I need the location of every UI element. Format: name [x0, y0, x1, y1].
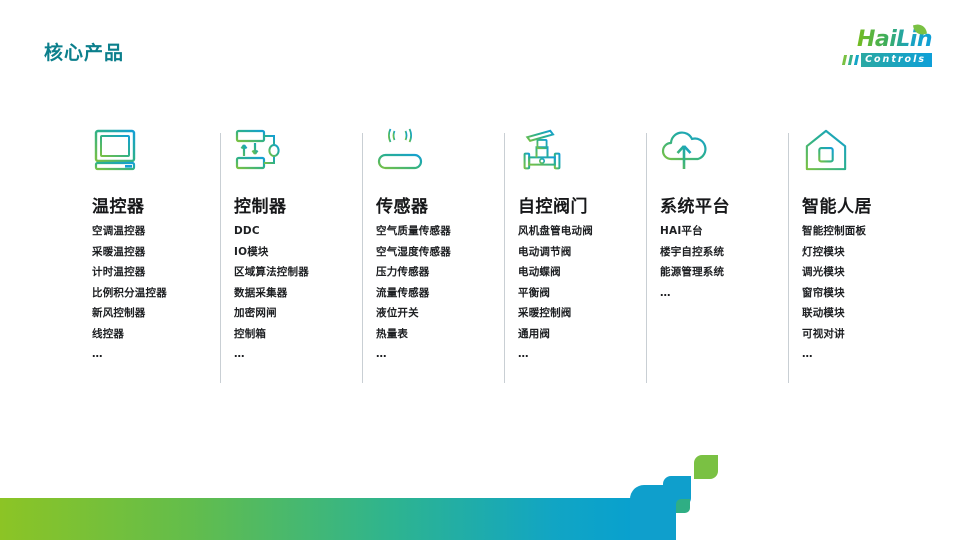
- control-valve-icon: [518, 128, 566, 172]
- smart-home-chip-icon: [802, 128, 850, 172]
- list-item: HAI平台: [660, 226, 788, 237]
- column-item-list: HAI平台 楼宇自控系统 能源管理系统 …: [660, 226, 788, 298]
- list-item: DDC: [234, 226, 362, 237]
- column-title: 智能人居: [802, 192, 930, 217]
- column-title: 温控器: [92, 192, 220, 217]
- list-item: 采暖温控器: [92, 247, 220, 258]
- product-column-valve: 自控阀门 风机盘管电动阀 电动调节阀 电动蝶阀 平衡阀 采暖控制阀 通用阀 …: [504, 128, 646, 390]
- brand-bar-icon: [854, 55, 859, 65]
- list-item: 线控器: [92, 329, 220, 340]
- brand-bar-icon: [842, 55, 847, 65]
- list-item: IO模块: [234, 247, 362, 258]
- column-item-list: 智能控制面板 灯控模块 调光模块 窗帘模块 联动模块 可视对讲 …: [802, 226, 930, 360]
- brand-subtitle-row: Controls: [843, 53, 932, 66]
- list-item: 流量传感器: [376, 288, 504, 299]
- list-item: 加密网闸: [234, 308, 362, 319]
- product-column-platform: 系统平台 HAI平台 楼宇自控系统 能源管理系统 …: [646, 128, 788, 390]
- list-item-ellipsis: …: [92, 349, 220, 360]
- list-item: 空气质量传感器: [376, 226, 504, 237]
- product-category-columns: 温控器 空调温控器 采暖温控器 计时温控器 比例积分温控器 新风控制器 线控器 …: [78, 128, 908, 390]
- footer-gradient-bar: [0, 498, 675, 540]
- list-item: 液位开关: [376, 308, 504, 319]
- brand-logo: HaiLin Controls: [812, 26, 932, 70]
- list-item-ellipsis: …: [660, 288, 788, 299]
- list-item: 窗帘模块: [802, 288, 930, 299]
- list-item: 数据采集器: [234, 288, 362, 299]
- list-item: 灯控模块: [802, 247, 930, 258]
- list-item: 热量表: [376, 329, 504, 340]
- list-item: 调光模块: [802, 267, 930, 278]
- column-item-list: 空气质量传感器 空气湿度传感器 压力传感器 流量传感器 液位开关 热量表 …: [376, 226, 504, 360]
- column-title: 系统平台: [660, 192, 788, 217]
- page-title: 核心产品: [44, 38, 124, 65]
- column-title: 自控阀门: [518, 192, 646, 217]
- footer-leaf-teal-icon: [676, 499, 690, 513]
- column-divider: [504, 133, 505, 383]
- column-item-list: 空调温控器 采暖温控器 计时温控器 比例积分温控器 新风控制器 线控器 …: [92, 226, 220, 360]
- list-item-ellipsis: …: [802, 349, 930, 360]
- list-item: 空调温控器: [92, 226, 220, 237]
- list-item: 区域算法控制器: [234, 267, 362, 278]
- brand-wordmark: HaiLin: [857, 29, 932, 51]
- list-item-ellipsis: …: [518, 349, 646, 360]
- list-item: 电动调节阀: [518, 247, 646, 258]
- list-item: 空气湿度传感器: [376, 247, 504, 258]
- column-divider: [362, 133, 363, 383]
- list-item: 采暖控制阀: [518, 308, 646, 319]
- product-column-controller: 控制器 DDC IO模块 区域算法控制器 数据采集器 加密网闸 控制箱 …: [220, 128, 362, 390]
- footer-leaf-green-icon: [694, 455, 718, 479]
- column-item-list: 风机盘管电动阀 电动调节阀 电动蝶阀 平衡阀 采暖控制阀 通用阀 …: [518, 226, 646, 360]
- wireless-sensor-icon: [376, 128, 424, 172]
- list-item: 压力传感器: [376, 267, 504, 278]
- column-title: 控制器: [234, 192, 362, 217]
- list-item: 风机盘管电动阀: [518, 226, 646, 237]
- column-divider: [788, 133, 789, 383]
- list-item: 控制箱: [234, 329, 362, 340]
- list-item: 联动模块: [802, 308, 930, 319]
- list-item: 计时温控器: [92, 267, 220, 278]
- product-column-smart-home: 智能人居 智能控制面板 灯控模块 调光模块 窗帘模块 联动模块 可视对讲 …: [788, 128, 930, 390]
- column-item-list: DDC IO模块 区域算法控制器 数据采集器 加密网闸 控制箱 …: [234, 226, 362, 360]
- list-item-ellipsis: …: [376, 349, 504, 360]
- column-divider: [646, 133, 647, 383]
- list-item: 能源管理系统: [660, 267, 788, 278]
- list-item: 比例积分温控器: [92, 288, 220, 299]
- list-item: 智能控制面板: [802, 226, 930, 237]
- list-item: 楼宇自控系统: [660, 247, 788, 258]
- list-item: 可视对讲: [802, 329, 930, 340]
- column-divider: [220, 133, 221, 383]
- brand-bar-icon: [848, 55, 853, 65]
- controller-network-icon: [234, 128, 282, 172]
- product-column-sensor: 传感器 空气质量传感器 空气湿度传感器 压力传感器 流量传感器 液位开关 热量表…: [362, 128, 504, 390]
- column-title: 传感器: [376, 192, 504, 217]
- product-column-thermostat: 温控器 空调温控器 采暖温控器 计时温控器 比例积分温控器 新风控制器 线控器 …: [78, 128, 220, 390]
- cloud-upload-icon: [660, 128, 708, 172]
- monitor-thermostat-icon: [92, 128, 140, 172]
- list-item: 电动蝶阀: [518, 267, 646, 278]
- list-item: 平衡阀: [518, 288, 646, 299]
- list-item-ellipsis: …: [234, 349, 362, 360]
- brand-subtitle: Controls: [861, 53, 932, 66]
- list-item: 新风控制器: [92, 308, 220, 319]
- list-item: 通用阀: [518, 329, 646, 340]
